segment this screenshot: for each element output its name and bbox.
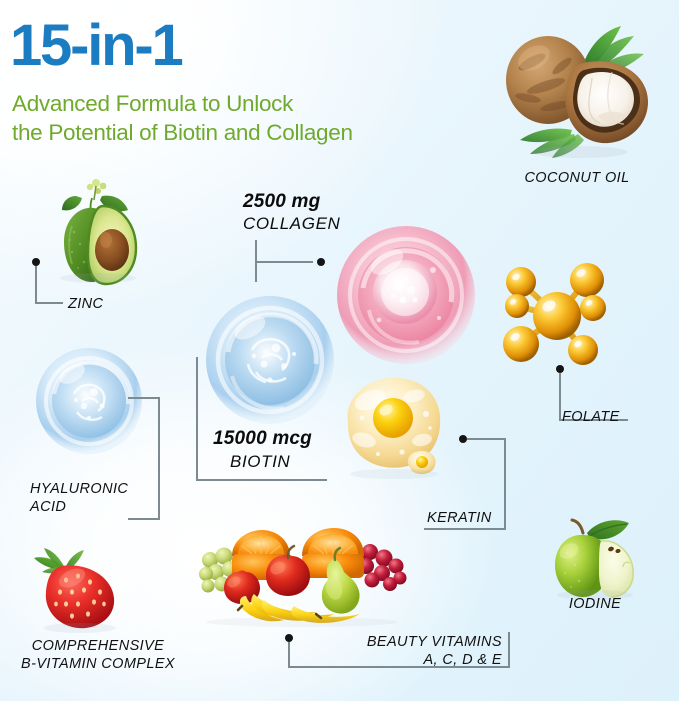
connector-line-keratin-bottom	[424, 528, 506, 530]
connector-dot-zinc	[32, 258, 40, 266]
connector-line-folate-vertical	[559, 373, 561, 420]
page-title: 15-in-1	[10, 17, 182, 75]
dose-collagen-name: COLLAGEN	[243, 214, 340, 234]
dose-biotin-amount: 15000 mcg	[213, 428, 312, 450]
dose-collagen-amount: 2500 mg	[243, 191, 320, 213]
connector-dot-beauty-vitamins	[285, 634, 293, 642]
coconut-oil-image	[488, 14, 660, 162]
connector-line-keratin-vertical	[504, 438, 506, 529]
label-b-vitamin-complex: COMPREHENSIVE B-VITAMIN COMPLEX	[0, 638, 196, 673]
connector-line-hyaluronic-bottom	[128, 518, 160, 520]
connector-line-biotin-horizontal	[196, 479, 327, 481]
connector-line-beauty-right-vertical	[508, 632, 510, 667]
connector-line-keratin-horizontal	[467, 438, 506, 440]
label-coconut-oil: COCONUT OIL	[482, 170, 672, 188]
hyaluronic-droplet-image	[34, 346, 144, 456]
connector-dot-folate	[556, 365, 564, 373]
connector-dot-keratin	[459, 435, 467, 443]
keratin-image	[334, 370, 460, 492]
label-beauty-vitamins: BEAUTY VITAMINS A, C, D & E	[300, 634, 502, 669]
connector-dot-collagen	[317, 258, 325, 266]
infographic-canvas: 15-in-1 Advanced Formula to Unlock the P…	[0, 0, 679, 701]
folate-molecule-image	[495, 258, 625, 376]
label-folate: FOLATE	[562, 409, 620, 427]
label-zinc: ZINC	[68, 296, 103, 314]
label-keratin: KERATIN	[427, 510, 492, 528]
fruit-assortment-image	[194, 516, 412, 626]
connector-line-hyaluronic-horizontal	[128, 397, 160, 399]
connector-line-zinc-horizontal	[35, 302, 63, 304]
avocado-image	[48, 174, 146, 286]
green-apple-image	[545, 515, 653, 603]
collagen-droplet-image	[333, 224, 479, 366]
connector-line-zinc-vertical	[35, 266, 37, 303]
page-subtitle: Advanced Formula to Unlock the Potential…	[12, 90, 353, 148]
strawberry-image	[28, 548, 130, 634]
biotin-droplet-image	[204, 294, 336, 426]
connector-line-biotin-vertical	[196, 357, 198, 481]
label-iodine: IODINE	[520, 596, 670, 614]
connector-line-collagen-horizontal	[255, 261, 313, 263]
dose-biotin-name: BIOTIN	[230, 452, 290, 472]
label-hyaluronic-acid: HYALURONIC ACID	[30, 481, 160, 516]
connector-line-beauty-vertical	[288, 642, 290, 667]
